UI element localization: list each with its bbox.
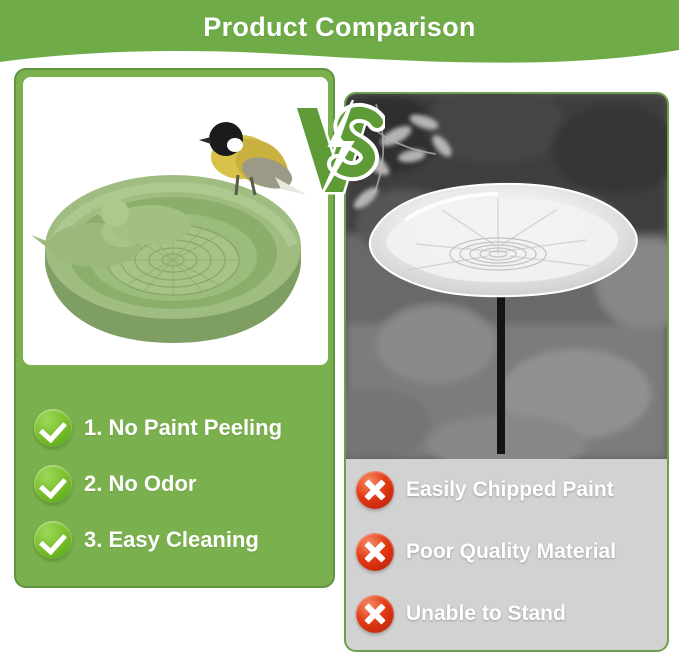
glass-bird-bath xyxy=(370,184,637,296)
page-title: Product Comparison xyxy=(0,12,679,43)
vs-badge-graphic xyxy=(293,100,385,196)
pros-list-item: 1. No Paint Peeling xyxy=(16,400,335,456)
cons-list-item: Unable to Stand xyxy=(346,583,667,645)
x-circle-icon xyxy=(356,533,394,571)
pros-list-item: 2. No Odor xyxy=(16,456,335,512)
product-comparison-infographic: Product Comparison xyxy=(0,0,679,662)
cons-item-label: Poor Quality Material xyxy=(406,540,616,564)
vs-badge xyxy=(293,100,385,196)
good-product-card: 1. No Paint Peeling 2. No Odor 3. Easy C… xyxy=(14,68,335,588)
pros-item-label: 2. No Odor xyxy=(84,471,196,497)
bad-product-card: Easily Chipped Paint Poor Quality Materi… xyxy=(344,92,669,652)
header-banner: Product Comparison xyxy=(0,0,679,78)
cons-list-item: Easily Chipped Paint xyxy=(346,459,667,521)
cons-item-label: Unable to Stand xyxy=(406,602,566,626)
cons-item-label: Easily Chipped Paint xyxy=(406,478,614,502)
pros-list-item: 3. Easy Cleaning xyxy=(16,512,335,568)
good-product-photo xyxy=(23,77,328,365)
check-circle-icon xyxy=(34,521,72,559)
cons-list: Easily Chipped Paint Poor Quality Materi… xyxy=(346,459,667,645)
pros-item-label: 1. No Paint Peeling xyxy=(84,415,282,441)
bad-product-photo xyxy=(346,94,667,459)
pros-list: 1. No Paint Peeling 2. No Odor 3. Easy C… xyxy=(16,400,335,568)
check-circle-icon xyxy=(34,409,72,447)
cons-list-item: Poor Quality Material xyxy=(346,521,667,583)
x-circle-icon xyxy=(356,471,394,509)
x-circle-icon xyxy=(356,595,394,633)
good-product-photo-frame xyxy=(23,77,328,365)
check-circle-icon xyxy=(34,465,72,503)
pros-item-label: 3. Easy Cleaning xyxy=(84,527,259,553)
bad-product-photo-frame xyxy=(346,94,667,459)
